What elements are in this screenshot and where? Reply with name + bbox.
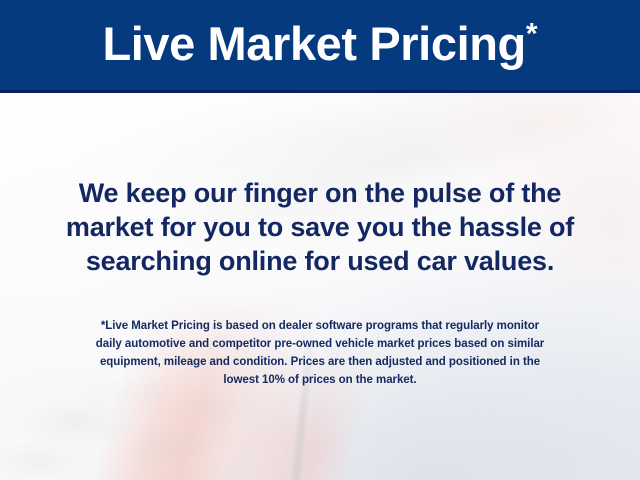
headline-block: We keep our finger on the pulse of the m…	[0, 176, 640, 278]
disclaimer-line-4: lowest 10% of prices on the market.	[0, 371, 640, 389]
disclaimer-line-1: *Live Market Pricing is based on dealer …	[0, 317, 640, 335]
headline-line-1: We keep our finger on the pulse of the	[0, 176, 640, 210]
disclaimer-block: *Live Market Pricing is based on dealer …	[0, 317, 640, 389]
headline-line-3: searching online for used car values.	[0, 244, 640, 278]
page-title-asterisk: *	[526, 17, 538, 50]
page-title-text: Live Market Pricing	[102, 17, 525, 70]
live-market-pricing-promo-card: Live Market Pricing* We keep our finger …	[0, 0, 640, 480]
disclaimer-line-2: daily automotive and competitor pre-owne…	[0, 335, 640, 353]
page-title: Live Market Pricing*	[102, 20, 537, 71]
header-banner: Live Market Pricing*	[0, 0, 640, 93]
headline-line-2: market for you to save you the hassle of	[0, 210, 640, 244]
disclaimer-line-3: equipment, mileage and condition. Prices…	[0, 353, 640, 371]
